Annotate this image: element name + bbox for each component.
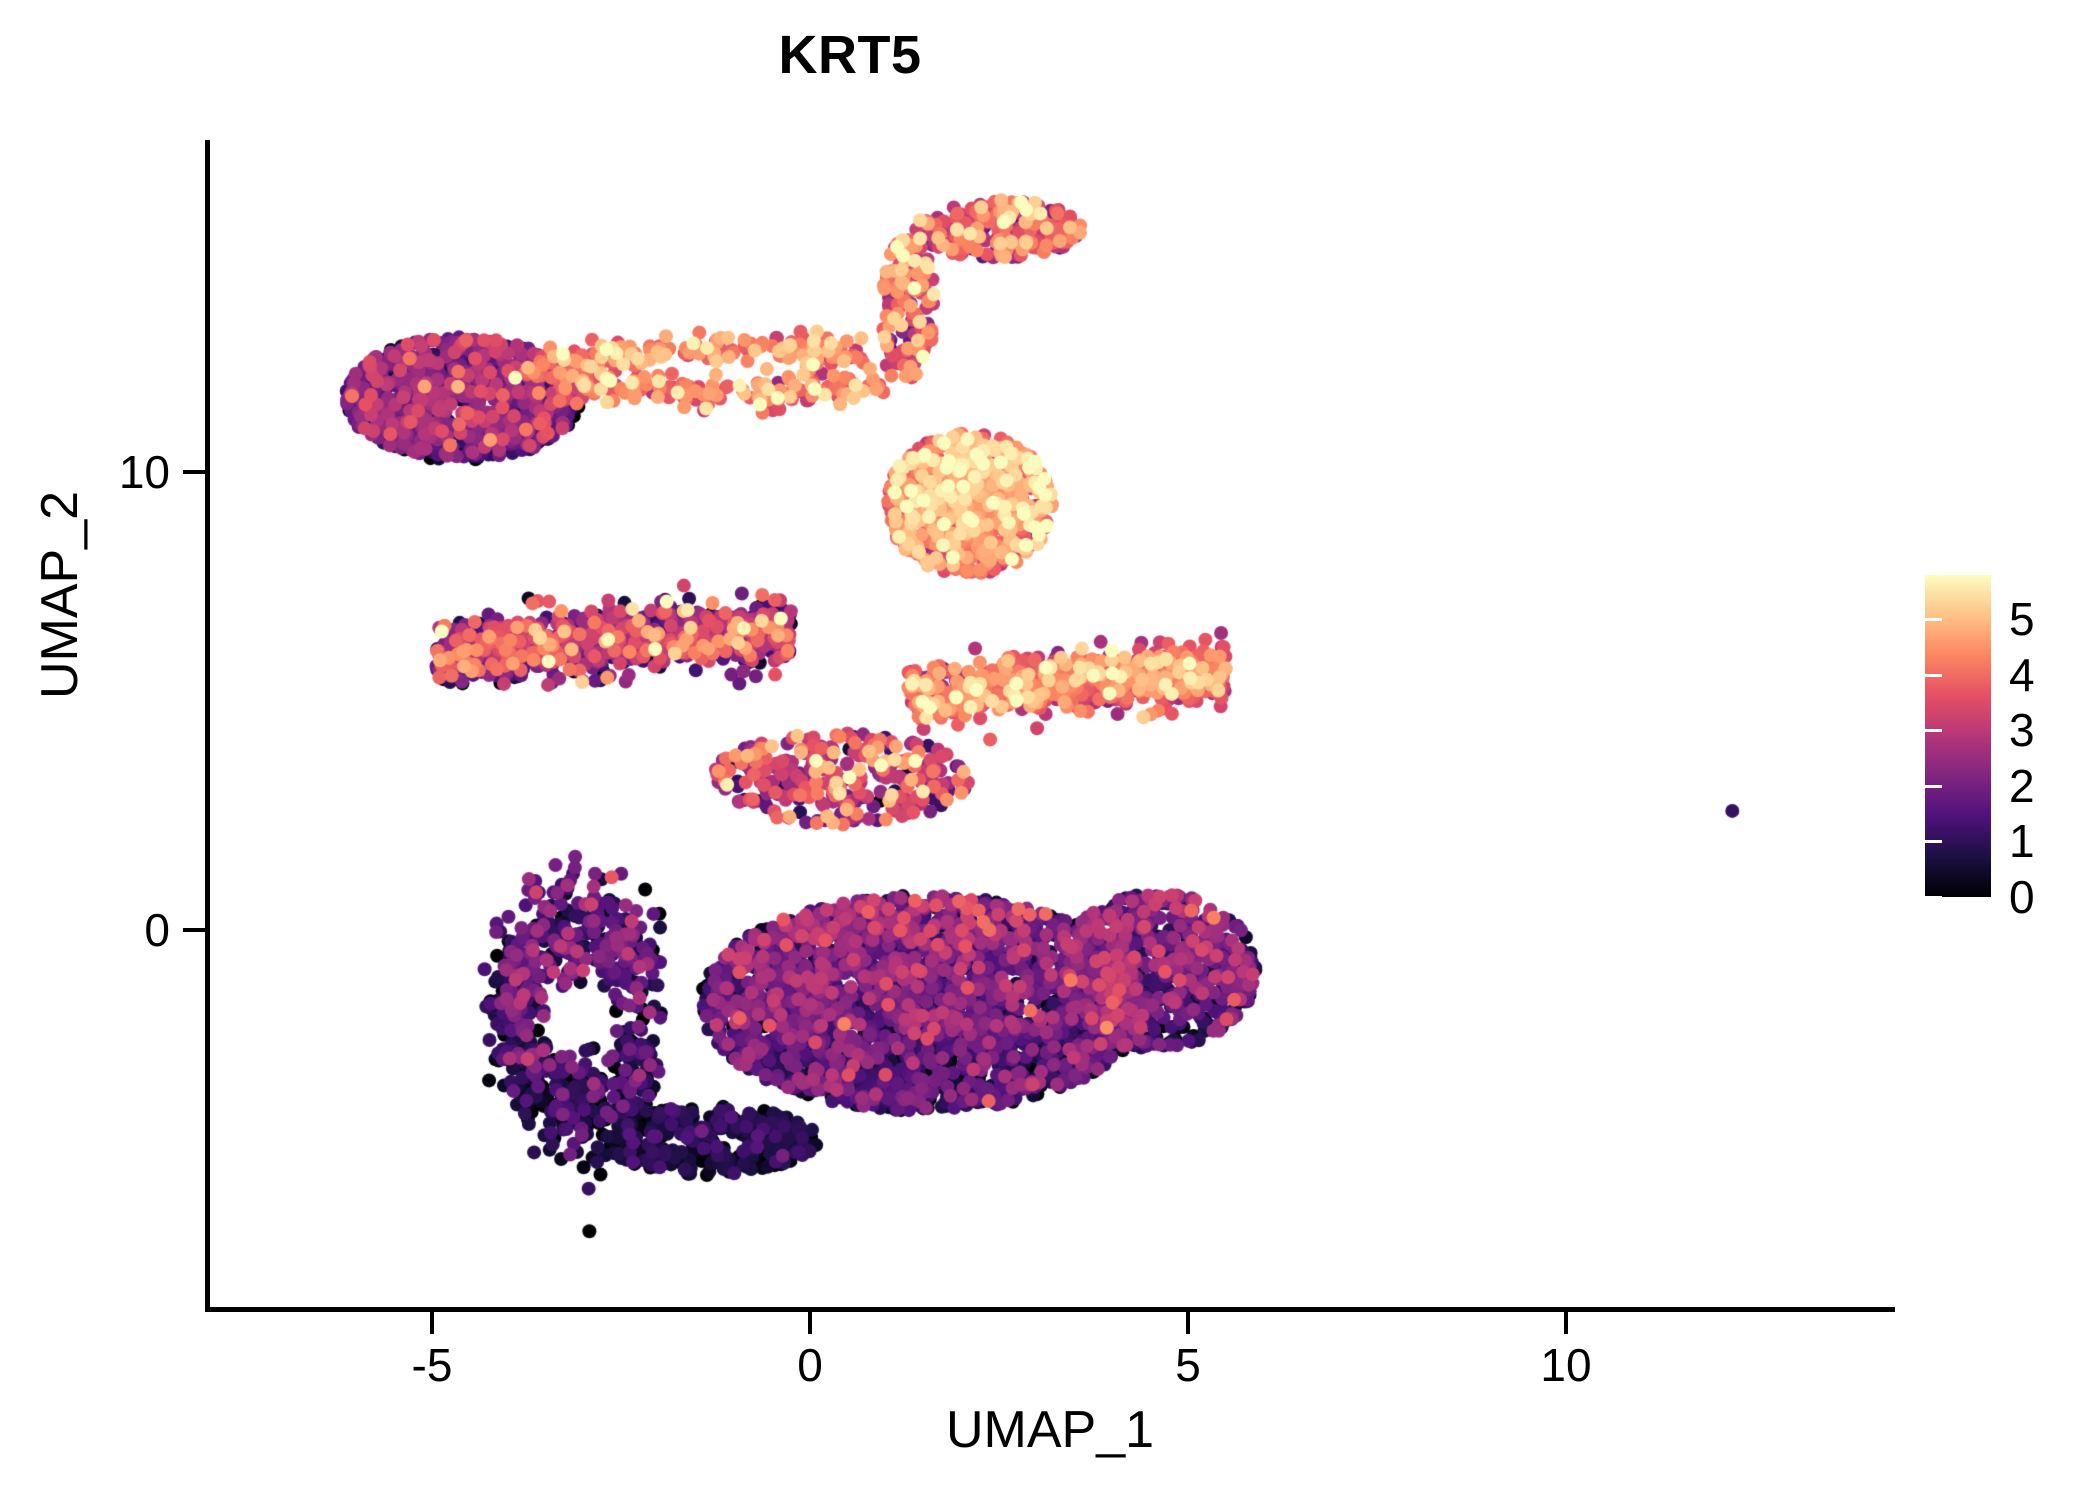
- colorbar-tick-mark: [1908, 618, 1925, 621]
- colorbar-tick-mark: [1908, 896, 1925, 899]
- colorbar-tick-mark: [1925, 840, 1942, 843]
- x-tick-mark: [1564, 1312, 1568, 1334]
- colorbar-tick-mark: [1908, 785, 1925, 788]
- x-tick-label: 5: [1175, 1338, 1201, 1392]
- colorbar-tick-label: 5: [2009, 592, 2035, 646]
- colorbar-tick-label: 4: [2009, 648, 2035, 702]
- y-tick-mark: [183, 470, 205, 474]
- x-tick-label: 10: [1540, 1338, 1591, 1392]
- colorbar-tick-label: 1: [2009, 814, 2035, 868]
- chart-page: KRT5 -50510 010 UMAP_1 UMAP_2 012345: [0, 0, 2100, 1500]
- x-axis-label: UMAP_1: [205, 1400, 1895, 1460]
- x-tick-label: 0: [797, 1338, 823, 1392]
- colorbar-tick-mark: [1908, 729, 1925, 732]
- colorbar-tick-mark: [1908, 674, 1925, 677]
- y-axis-label: UMAP_2: [30, 245, 90, 945]
- y-tick-mark: [183, 928, 205, 932]
- umap-scatter-canvas: [0, 0, 2100, 1500]
- x-tick-mark: [808, 1312, 812, 1334]
- colorbar-tick-mark: [1925, 896, 1942, 899]
- colorbar-tick-mark: [1925, 618, 1942, 621]
- x-axis-line: [205, 1307, 1895, 1312]
- colorbar-tick-mark: [1925, 729, 1942, 732]
- x-tick-mark: [430, 1312, 434, 1334]
- x-tick-label: -5: [412, 1338, 453, 1392]
- colorbar-tick-label: 3: [2009, 703, 2035, 757]
- colorbar-tick-mark: [1925, 674, 1942, 677]
- colorbar-tick-mark: [1925, 785, 1942, 788]
- colorbar-tick-label: 2: [2009, 759, 2035, 813]
- colorbar-tick-label: 0: [2009, 870, 2035, 924]
- x-tick-mark: [1186, 1312, 1190, 1334]
- colorbar-tick-mark: [1908, 840, 1925, 843]
- y-axis-line: [205, 140, 210, 1312]
- colorbar-gradient: [1925, 575, 1991, 897]
